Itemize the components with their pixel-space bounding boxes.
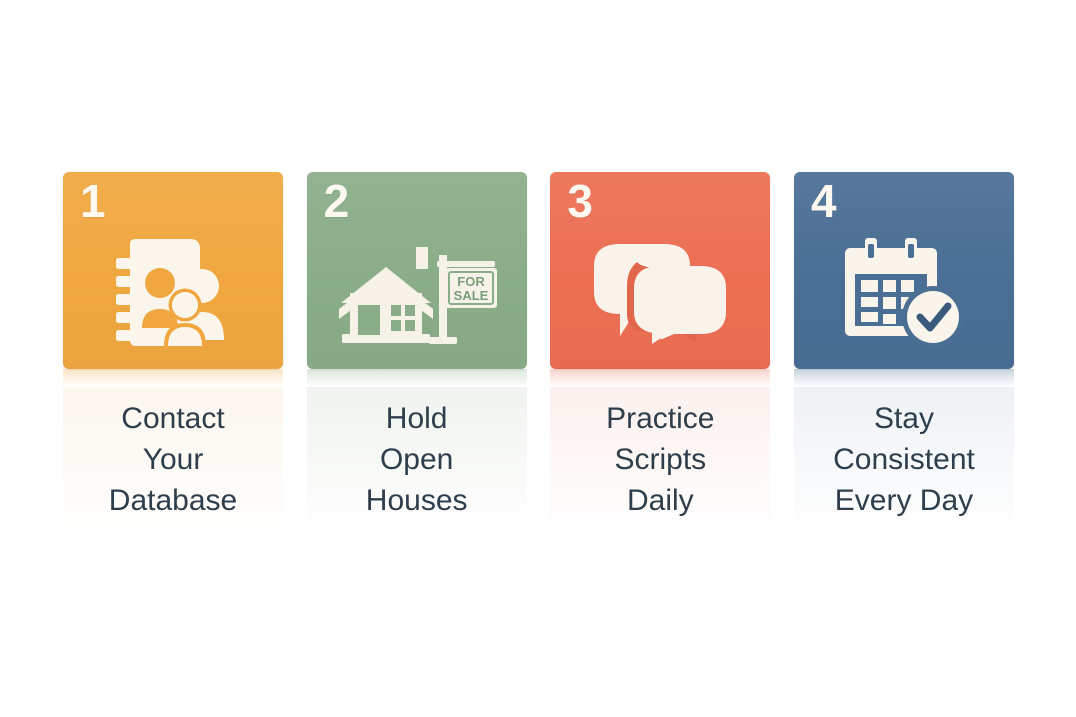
house-for-sale-sign-icon: FOR SALE (307, 224, 527, 359)
step-card-2[interactable]: 2 (307, 172, 527, 542)
step-card-1[interactable]: 1 (63, 172, 283, 542)
for-sale-line-1: FOR (457, 274, 485, 289)
step-label-line: Scripts (614, 439, 706, 480)
tile-reflection-3 (550, 369, 770, 387)
step-label-panel-3: Practice Scripts Daily (550, 387, 770, 542)
step-label-line: Consistent (833, 439, 975, 480)
step-label-line: Stay (874, 398, 934, 439)
tile-reflection-4 (794, 369, 1014, 387)
step-icon-tile-1: 1 (63, 172, 283, 369)
step-label-line: Every Day (835, 480, 973, 521)
step-label-line: Contact (121, 398, 224, 439)
step-label-line: Daily (627, 480, 694, 521)
step-label-line: Open (380, 439, 453, 480)
step-number-4: 4 (811, 178, 836, 224)
for-sale-line-2: SALE (453, 288, 488, 303)
speech-bubbles-icon (550, 224, 770, 359)
calendar-check-icon (794, 224, 1014, 359)
step-label-line: Your (143, 439, 204, 480)
step-number-1: 1 (80, 178, 105, 224)
tile-reflection-2 (307, 369, 527, 387)
step-number-2: 2 (324, 178, 349, 224)
tile-reflection-1 (63, 369, 283, 387)
step-label-panel-1: Contact Your Database (63, 387, 283, 542)
step-label-line: Houses (366, 480, 468, 521)
step-number-3: 3 (567, 178, 592, 224)
step-card-3[interactable]: 3 Practice Scripts Daily (550, 172, 770, 542)
step-icon-tile-2: 2 (307, 172, 527, 369)
steps-container: 1 (63, 172, 1014, 542)
step-icon-tile-4: 4 (794, 172, 1014, 369)
step-label-panel-2: Hold Open Houses (307, 387, 527, 542)
step-label-line: Hold (386, 398, 448, 439)
step-card-4[interactable]: 4 (794, 172, 1014, 542)
step-label-line: Practice (606, 398, 714, 439)
contact-book-people-icon (63, 224, 283, 359)
step-label-panel-4: Stay Consistent Every Day (794, 387, 1014, 542)
step-label-line: Database (109, 480, 237, 521)
step-icon-tile-3: 3 (550, 172, 770, 369)
